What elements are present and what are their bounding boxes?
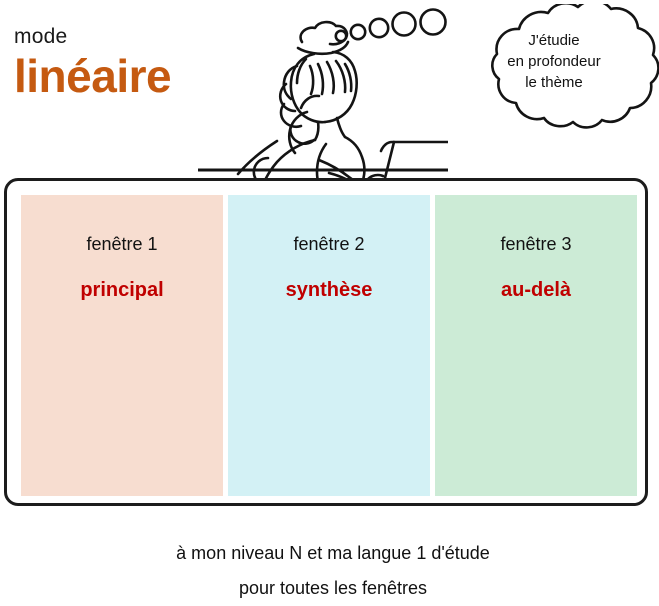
shared-caption: à mon niveau N et ma langue 1 d'étude po… (11, 536, 655, 606)
window-column-3[interactable]: fenêtre 3 au-delà (435, 195, 637, 496)
window-1-keyword: principal (21, 280, 223, 300)
window-column-1[interactable]: fenêtre 1 principal (21, 195, 223, 496)
bubble-line-3: le thème (478, 72, 630, 93)
mode-name: linéaire (14, 53, 171, 99)
person-studying-illustration (198, 4, 448, 178)
window-2-title: fenêtre 2 (228, 235, 430, 253)
thought-bubble-text: J'étudie en profondeur le thème (478, 30, 630, 93)
thought-bubble: J'étudie en profondeur le thème (448, 4, 659, 134)
caption-line-1: à mon niveau N et ma langue 1 d'étude (11, 536, 655, 571)
window-3-title: fenêtre 3 (435, 235, 637, 253)
mode-label: mode (14, 26, 171, 47)
caption-line-2: pour toutes les fenêtres (11, 571, 655, 606)
window-3-keyword: au-delà (435, 280, 637, 300)
bubble-line-2: en profondeur (478, 51, 630, 72)
bubble-line-1: J'étudie (478, 30, 630, 51)
header-area: mode linéaire (0, 0, 659, 178)
window-2-keyword: synthèse (228, 280, 430, 300)
window-1-title: fenêtre 1 (21, 235, 223, 253)
windows-columns: fenêtre 1 principal fenêtre 2 synthèse f… (21, 195, 637, 496)
windows-frame: fenêtre 1 principal fenêtre 2 synthèse f… (4, 178, 648, 506)
page-title: mode linéaire (14, 26, 171, 99)
window-column-2[interactable]: fenêtre 2 synthèse (228, 195, 430, 496)
